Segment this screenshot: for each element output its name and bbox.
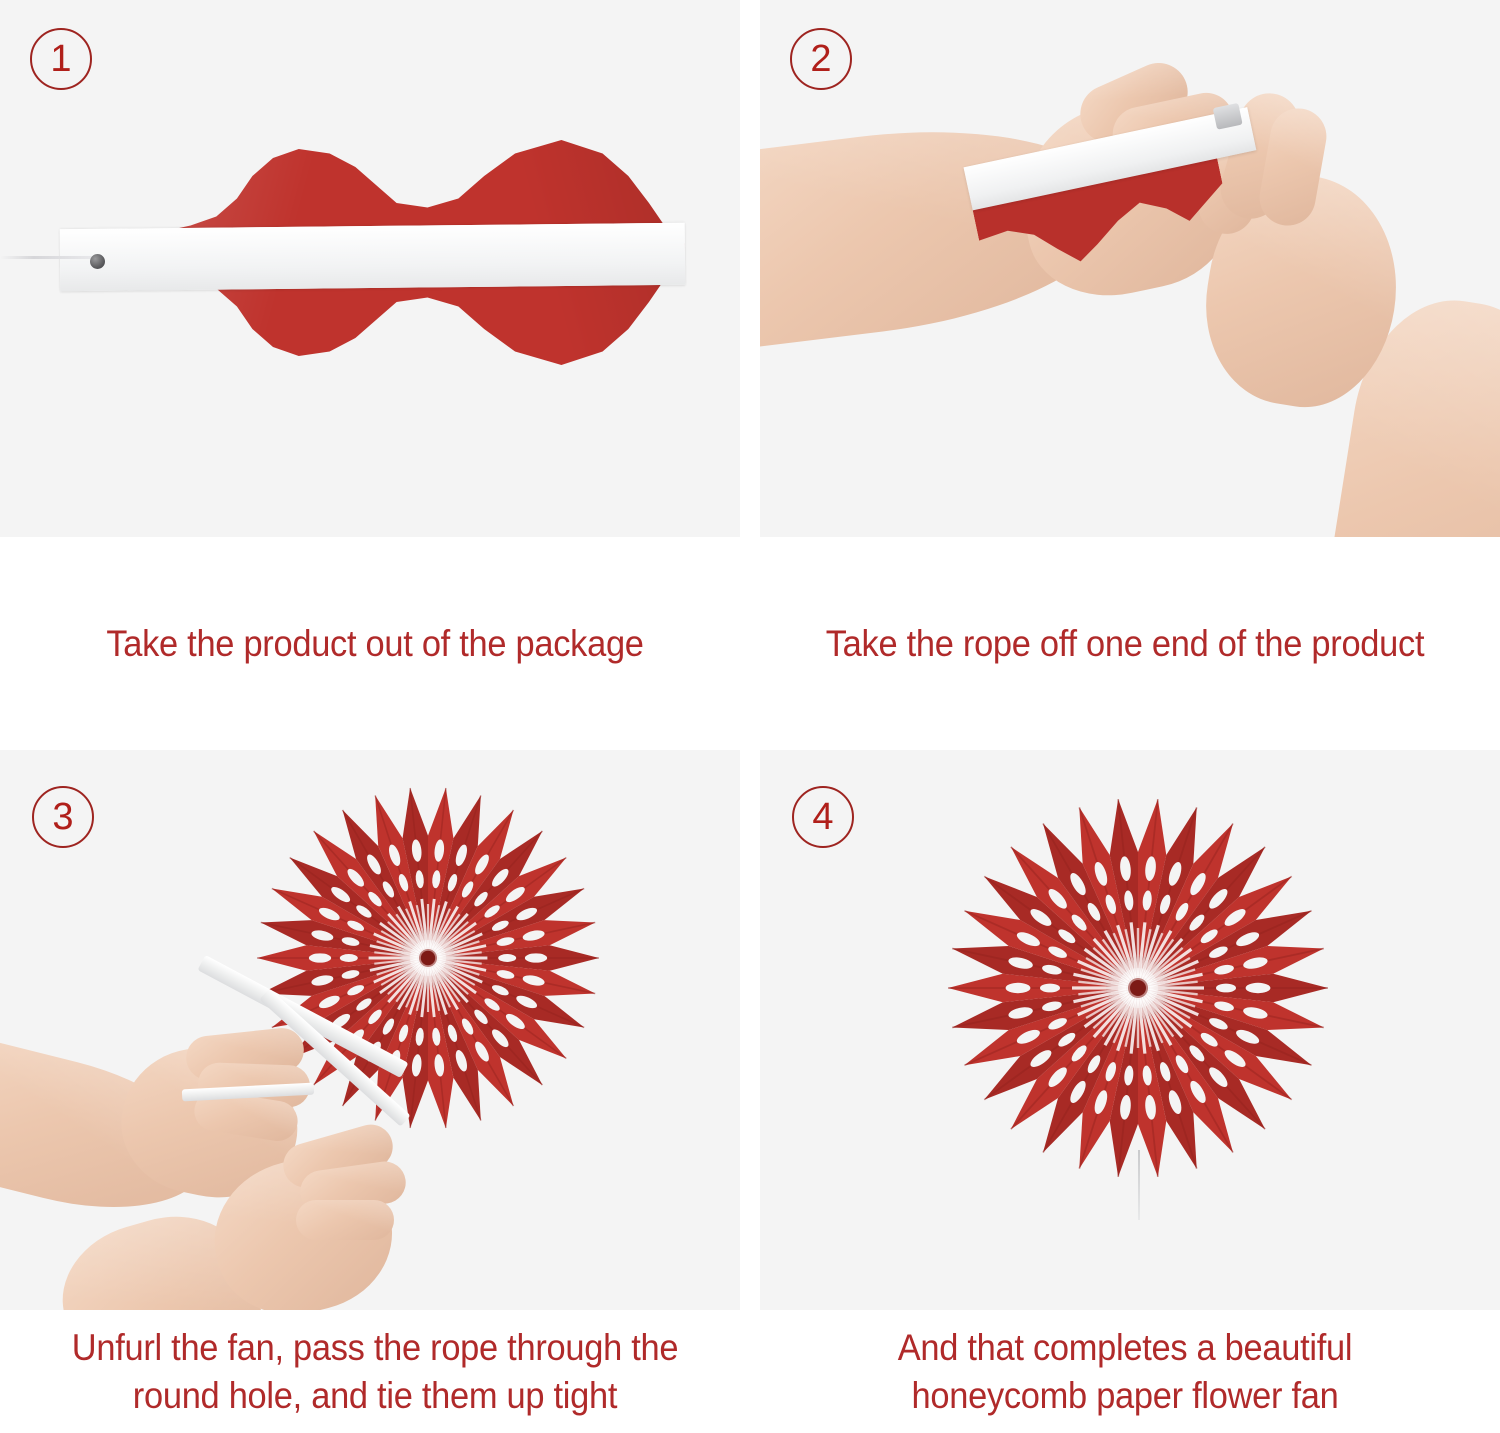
step-number-badge-3: 3 — [32, 786, 94, 848]
eyelet-icon — [90, 254, 105, 269]
string-icon — [1138, 1150, 1140, 1220]
step-number-badge-4: 4 — [792, 786, 854, 848]
caption-line: honeycomb paper flower fan — [898, 1372, 1353, 1419]
hand-icon — [296, 1200, 394, 1240]
step-card-1: 1 Take the product out of the package — [0, 0, 750, 750]
step-1-caption: Take the product out of the package — [26, 537, 724, 750]
instruction-board: 1 Take the product out of the package 2 — [0, 0, 1500, 1433]
string-icon — [0, 256, 96, 259]
caption-line: round hole, and tie them up tight — [72, 1372, 678, 1419]
step-card-2: 2 Take the rope off one end of the produ… — [750, 0, 1500, 750]
caption-line: Take the product out of the package — [106, 620, 643, 667]
caption-line: Take the rope off one end of the product — [826, 620, 1424, 667]
folded-fan-product — [60, 140, 685, 365]
step-card-3: 3 — [0, 750, 750, 1433]
step-4-caption: And that completes a beautiful honeycomb… — [776, 1310, 1474, 1433]
step-number-badge-2: 2 — [790, 28, 852, 90]
folded-fan-white-band — [60, 223, 686, 292]
caption-line: And that completes a beautiful — [898, 1324, 1353, 1371]
step-1-photo: 1 — [0, 0, 740, 537]
caption-line: Unfurl the fan, pass the rope through th… — [72, 1324, 678, 1371]
step-2-photo: 2 — [760, 0, 1500, 537]
step-number-badge-1: 1 — [30, 28, 92, 90]
step-3-caption: Unfurl the fan, pass the rope through th… — [26, 1310, 724, 1433]
step-card-4: 4 And that completes a beautiful honeyco… — [750, 750, 1500, 1433]
paper-fan-graphic — [938, 788, 1338, 1188]
paper-fan-icon — [938, 788, 1338, 1188]
step-3-photo: 3 — [0, 750, 740, 1310]
step-2-caption: Take the rope off one end of the product — [776, 537, 1474, 750]
step-4-photo: 4 — [760, 750, 1500, 1310]
